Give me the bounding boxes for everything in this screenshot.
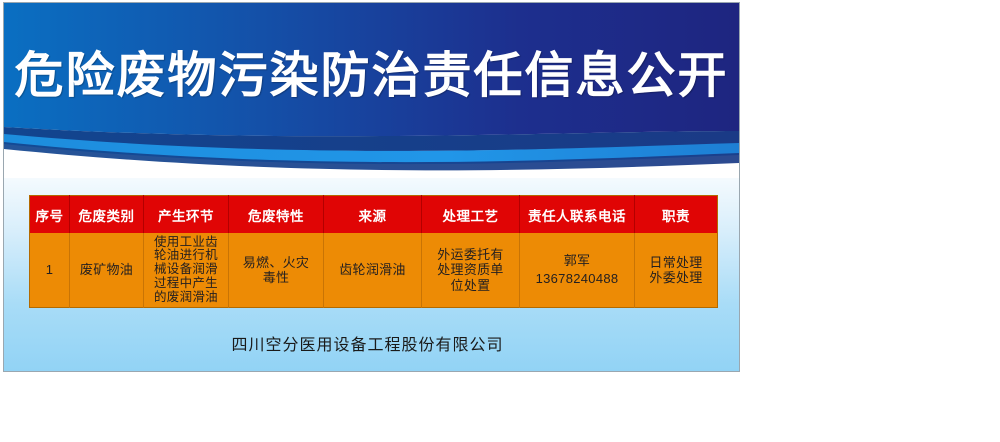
column-header-contact-phone: 责任人联系电话 (520, 196, 635, 234)
company-name: 四川空分医用设备工程股份有限公司 (4, 331, 739, 355)
column-header-hazard-property: 危废特性 (229, 196, 324, 234)
column-header-source: 来源 (324, 196, 422, 234)
table-header-row: 序号 危废类别 产生环节 危废特性 来源 处理工艺 责任人联系电话 职责 (30, 196, 718, 234)
cell-treatment-process: 外运委托有 处理资质单 位处置 (422, 233, 520, 308)
cell-generation-stage-line: 使用工业齿 (147, 236, 225, 250)
cell-duty-line: 外委处理 (638, 270, 714, 285)
column-header-generation-stage: 产生环节 (144, 196, 229, 234)
column-header-duty: 职责 (635, 196, 718, 234)
cell-generation-stage-line: 械设备润滑 (147, 263, 225, 277)
cell-treatment-line: 处理资质单 (425, 262, 516, 277)
cell-source: 齿轮润滑油 (324, 233, 422, 308)
cell-duty: 日常处理 外委处理 (635, 233, 718, 308)
cell-duty-line: 日常处理 (638, 255, 714, 270)
cell-hazard-property: 易燃、火灾 毒性 (229, 233, 324, 308)
column-header-treatment: 处理工艺 (422, 196, 520, 234)
responsible-person-name: 郭军 (523, 252, 631, 270)
poster-banner: 危险废物污染防治责任信息公开 (4, 3, 739, 178)
cell-category: 废矿物油 (70, 233, 144, 308)
column-header-index: 序号 (30, 196, 70, 234)
cell-treatment-line: 位处置 (425, 278, 516, 293)
cell-responsible-contact: 郭军 13678240488 (520, 233, 635, 308)
page-title: 危险废物污染防治责任信息公开 (4, 48, 739, 104)
cell-generation-stage-line: 的废润滑油 (147, 291, 225, 305)
information-disclosure-poster: 危险废物污染防治责任信息公开 序号 危废类别 产生环节 危废特性 来源 处理工艺… (3, 2, 740, 372)
cell-hazard-property-line: 易燃、火灾 (232, 255, 320, 270)
column-header-category: 危废类别 (70, 196, 144, 234)
cell-hazard-property-line: 毒性 (232, 270, 320, 285)
cell-index: 1 (30, 233, 70, 308)
responsible-person-phone: 13678240488 (523, 270, 631, 288)
cell-treatment-line: 外运委托有 (425, 247, 516, 262)
cell-generation-stage-line: 过程中产生 (147, 277, 225, 291)
table-row: 1 废矿物油 使用工业齿 轮油进行机 械设备润滑 过程中产生 的废润滑油 易燃、… (30, 233, 718, 308)
cell-generation-stage: 使用工业齿 轮油进行机 械设备润滑 过程中产生 的废润滑油 (144, 233, 229, 308)
hazardous-waste-table: 序号 危废类别 产生环节 危废特性 来源 处理工艺 责任人联系电话 职责 1 废… (29, 195, 718, 308)
